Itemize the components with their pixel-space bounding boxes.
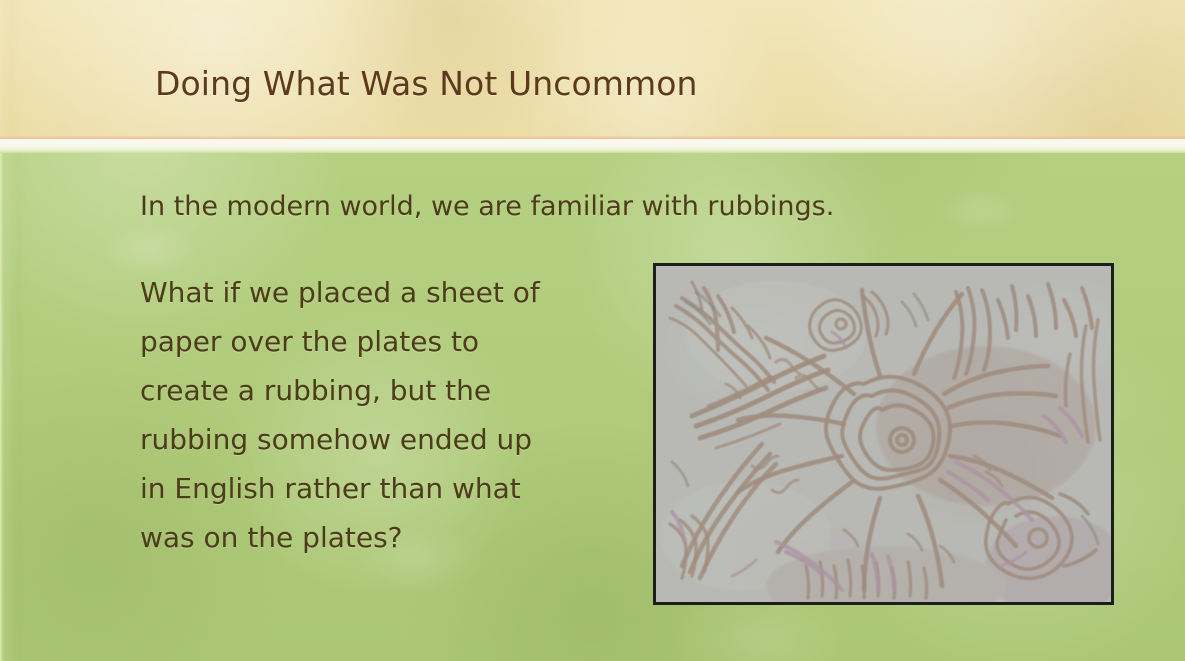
- rubbing-image: [656, 266, 1111, 602]
- question-line-1: What if we placed a sheet of: [140, 268, 640, 317]
- question-line-2: paper over the plates to: [140, 317, 640, 366]
- rubbing-image-frame: [653, 263, 1114, 605]
- question-paragraph: What if we placed a sheet of paper over …: [140, 268, 640, 562]
- intro-paragraph: In the modern world, we are familiar wit…: [140, 190, 834, 224]
- banner-separator-stripe: [0, 139, 1185, 153]
- question-line-6: was on the plates?: [140, 513, 640, 562]
- question-line-5: in English rather than what: [140, 464, 640, 513]
- left-edge-highlight: [0, 153, 9, 661]
- slide-title: Doing What Was Not Uncommon: [155, 64, 698, 103]
- question-line-4: rubbing somehow ended up: [140, 415, 640, 464]
- question-line-3: create a rubbing, but the: [140, 366, 640, 415]
- presentation-slide: Doing What Was Not Uncommon In the moder…: [0, 0, 1185, 661]
- rubbing-illustration: [656, 266, 1111, 602]
